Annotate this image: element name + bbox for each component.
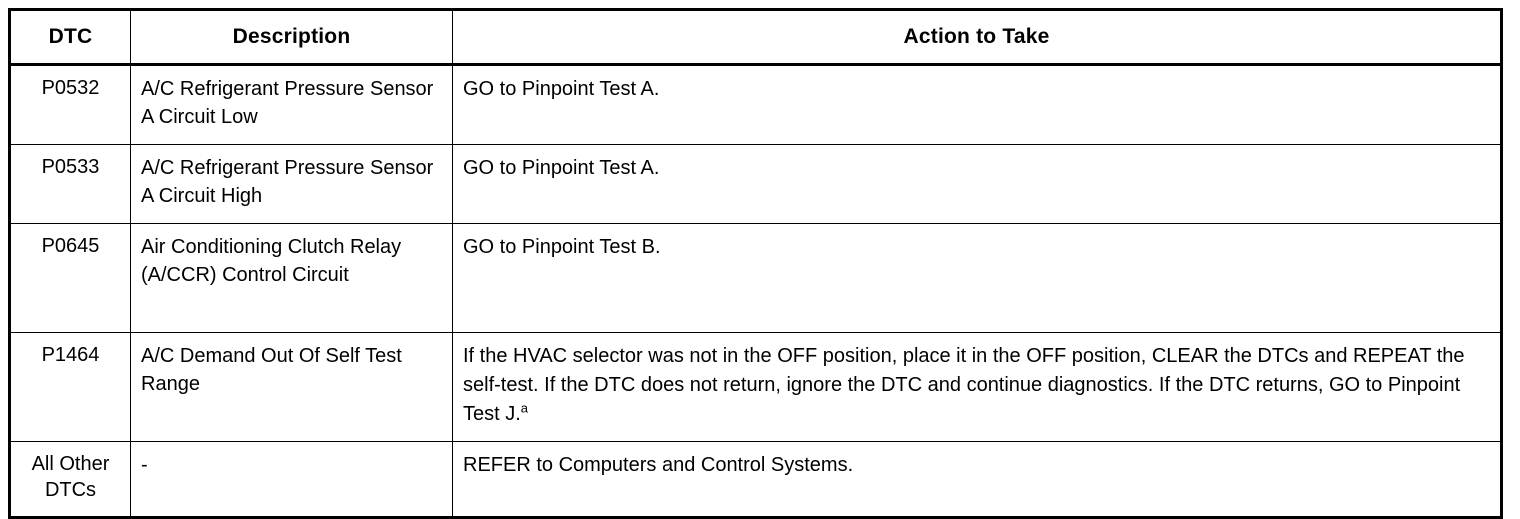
column-header-description: Description <box>131 10 453 65</box>
cell-dtc-code: P0532 <box>10 65 131 145</box>
cell-dtc-code: P1464 <box>10 333 131 442</box>
document-page: DTC Description Action to Take P0532 A/C… <box>0 0 1520 510</box>
action-text: GO to Pinpoint Test A. <box>463 157 659 179</box>
cell-dtc-code: P0533 <box>10 145 131 224</box>
dtc-diagnostic-table: DTC Description Action to Take P0532 A/C… <box>8 8 1503 519</box>
cell-dtc-code: P0645 <box>10 224 131 333</box>
table-row: P0532 A/C Refrigerant Pressure Sensor A … <box>10 65 1502 145</box>
footnote-marker: a <box>521 400 528 415</box>
cell-action-to-take: GO to Pinpoint Test A. <box>453 145 1502 224</box>
cell-action-to-take: GO to Pinpoint Test A. <box>453 65 1502 145</box>
cell-description: Air Conditioning Clutch Relay (A/CCR) Co… <box>131 224 453 333</box>
table-row: P0533 A/C Refrigerant Pressure Sensor A … <box>10 145 1502 224</box>
action-text: REFER to Computers and Control Systems. <box>463 454 853 476</box>
table-header-row: DTC Description Action to Take <box>10 10 1502 65</box>
column-header-action-to-take: Action to Take <box>453 10 1502 65</box>
cell-action-to-take: If the HVAC selector was not in the OFF … <box>453 333 1502 442</box>
column-header-dtc: DTC <box>10 10 131 65</box>
cell-description: A/C Demand Out Of Self Test Range <box>131 333 453 442</box>
table-row: P1464 A/C Demand Out Of Self Test Range … <box>10 333 1502 442</box>
table-header: DTC Description Action to Take <box>10 10 1502 65</box>
cell-description: A/C Refrigerant Pressure Sensor A Circui… <box>131 145 453 224</box>
cell-dtc-code: All Other DTCs <box>10 442 131 518</box>
table-row: P0645 Air Conditioning Clutch Relay (A/C… <box>10 224 1502 333</box>
table-row: All Other DTCs - REFER to Computers and … <box>10 442 1502 518</box>
cell-action-to-take: GO to Pinpoint Test B. <box>453 224 1502 333</box>
action-text: GO to Pinpoint Test A. <box>463 78 659 100</box>
action-text: GO to Pinpoint Test B. <box>463 236 661 258</box>
cell-description: A/C Refrigerant Pressure Sensor A Circui… <box>131 65 453 145</box>
cell-description: - <box>131 442 453 518</box>
cell-action-to-take: REFER to Computers and Control Systems. <box>453 442 1502 518</box>
action-text: If the HVAC selector was not in the OFF … <box>463 345 1465 425</box>
table-body: P0532 A/C Refrigerant Pressure Sensor A … <box>10 65 1502 518</box>
